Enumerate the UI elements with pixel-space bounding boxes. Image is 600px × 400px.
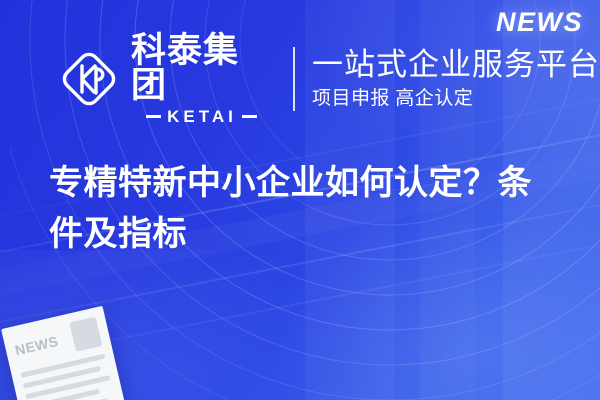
newspaper-thumbnail [69,317,102,352]
dash-right-icon [242,115,257,118]
dash-left-icon [146,115,161,118]
article-headline: 专精特新中小企业如何认定？条件及指标 [49,158,554,259]
slogan-primary: 一站式企业服务平台 [312,48,600,83]
banner-header: 科泰集团 KETAI 一站式企业服务平台 项目申报 高企认定 [0,36,600,122]
kp-monogram-diamond-icon [58,48,120,110]
slogan-secondary: 项目申报 高企认定 [312,89,600,110]
brand-name-en-row: KETAI [131,108,272,125]
header-divider [293,47,295,111]
brand-logo[interactable]: 科泰集团 KETAI [58,33,272,125]
news-wordmark: NEWS [496,7,583,38]
slogan-block: 一站式企业服务平台 项目申报 高企认定 [312,48,600,110]
brand-name-en: KETAI [167,108,237,125]
brand-name-cn: 科泰集团 [131,33,272,103]
newspaper-masthead: NEWS [14,330,75,357]
brand-wordmark: 科泰集团 KETAI [131,33,272,125]
news-banner: NEWS 科泰集 [0,0,600,400]
newspaper-illustration: NEWS [1,306,129,400]
